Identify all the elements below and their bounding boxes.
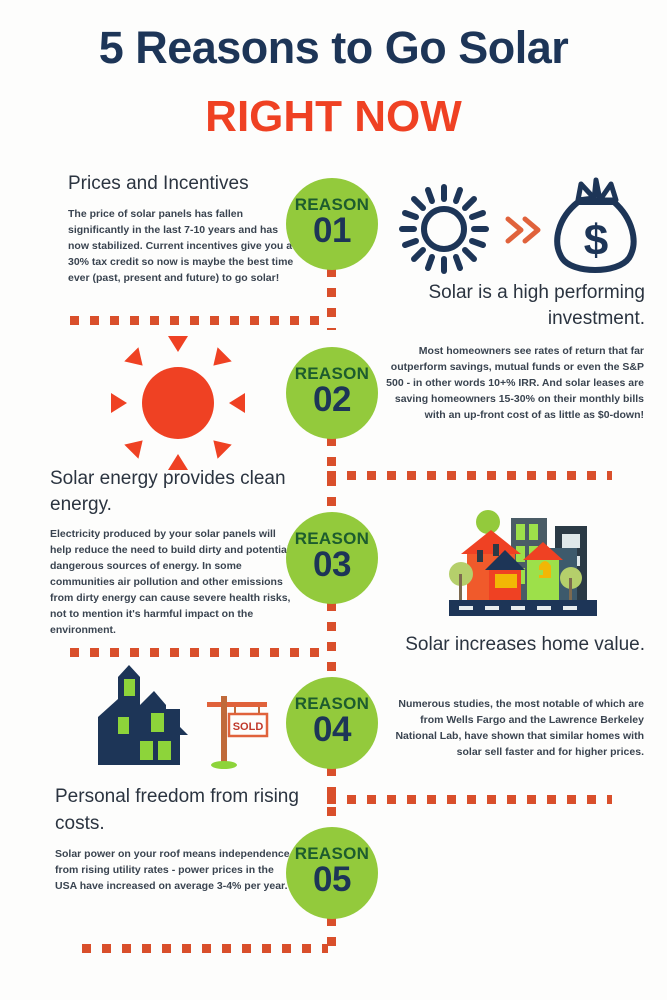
reason-04-body: Numerous studies, the most notable of wh… (390, 697, 644, 761)
reason-02-heading: Solar is a high performing investment. (367, 280, 645, 332)
sun-icon (397, 182, 491, 276)
page-title: 5 Reasons to Go Solar (0, 22, 667, 74)
reason-03-body: Electricity produced by your solar panel… (50, 527, 300, 639)
badge-number: 01 (313, 213, 351, 250)
badge-reason-03[interactable]: REASON 03 (286, 512, 378, 604)
connector-horizontal-4 (327, 795, 612, 804)
reason-01-heading: Prices and Incentives (68, 172, 298, 197)
chevron-double-right-icon (503, 213, 543, 247)
sold-sign-icon: SOLD (205, 692, 275, 770)
badge-reason-04[interactable]: REASON 04 (286, 677, 378, 769)
infographic-page: 5 Reasons to Go Solar RIGHT NOW REASON 0… (0, 0, 667, 1000)
money-bag-icon: $ (548, 176, 644, 280)
badge-number: 05 (313, 862, 351, 899)
badge-number: 03 (313, 547, 351, 584)
reason-05-body: Solar power on your roof means independe… (55, 847, 295, 895)
connector-horizontal-2 (327, 471, 612, 480)
reason-03-heading: Solar energy provides clean energy. (50, 466, 300, 518)
badge-reason-05[interactable]: REASON 05 (286, 827, 378, 919)
reason-05-heading: Personal freedom from rising costs. (55, 784, 305, 837)
badge-number: 02 (313, 382, 351, 419)
connector-horizontal-5 (82, 944, 328, 953)
orange-sun-icon (113, 338, 243, 468)
house-icon (88, 665, 208, 769)
connector-vertical-3 (327, 602, 336, 674)
reason-04-heading: Solar increases home value. (367, 632, 645, 658)
city-skyline-icon (443, 508, 603, 626)
page-subtitle: RIGHT NOW (0, 92, 667, 142)
reason-01-body: The price of solar panels has fallen sig… (68, 207, 300, 287)
sold-label: SOLD (233, 721, 264, 733)
connector-horizontal-1 (70, 316, 328, 325)
badge-reason-01[interactable]: REASON 01 (286, 178, 378, 270)
connector-vertical-1 (327, 268, 336, 330)
badge-reason-02[interactable]: REASON 02 (286, 347, 378, 439)
badge-number: 04 (313, 712, 351, 749)
connector-vertical-5 (327, 917, 336, 949)
reason-02-body: Most homeowners see rates of return that… (378, 344, 644, 424)
svg-text:$: $ (584, 216, 608, 265)
connector-horizontal-3 (70, 648, 328, 657)
